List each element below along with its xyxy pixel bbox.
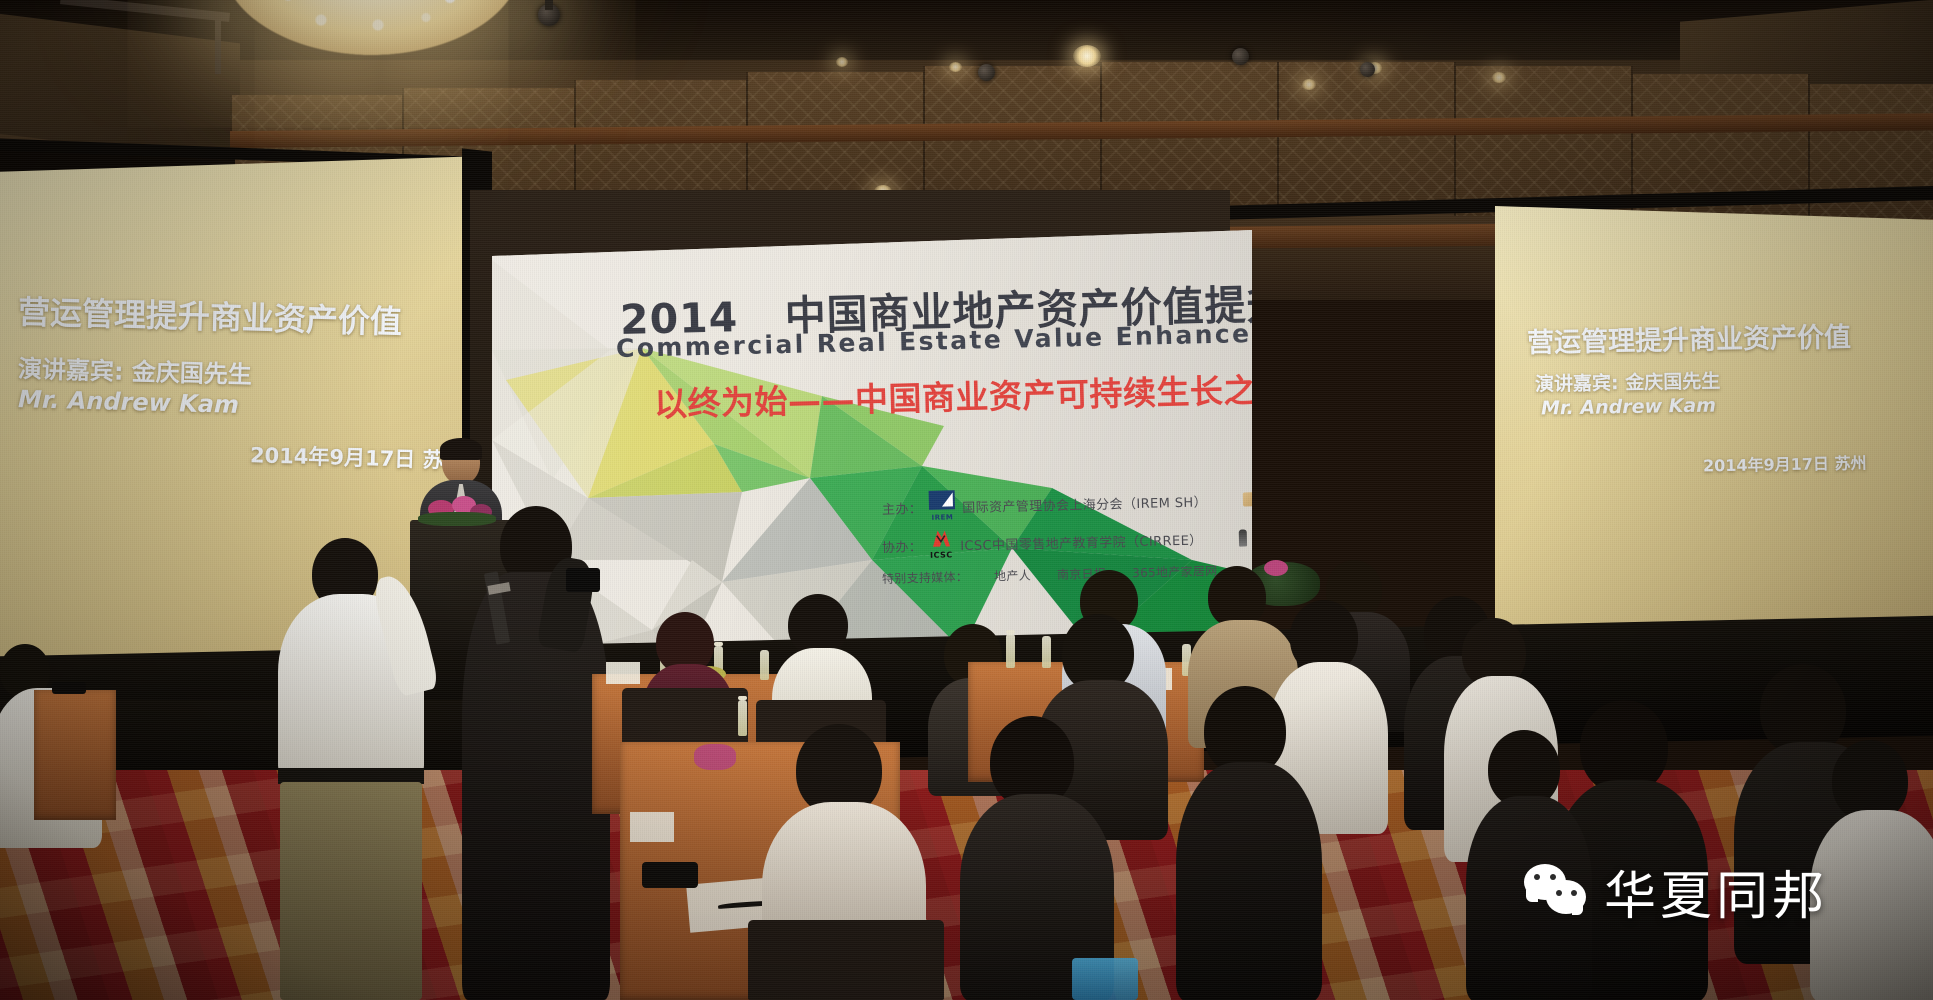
wechat-logo-icon — [1524, 864, 1590, 920]
credit-text-0-0: 国际资产管理协会上海分会（IREM SH） — [962, 491, 1207, 516]
wechat-account-name: 华夏同邦 — [1604, 854, 1828, 929]
water-bottle — [760, 650, 769, 680]
wechat-eye-3 — [1556, 890, 1562, 896]
bottle-cap — [1006, 630, 1015, 634]
torso — [1176, 762, 1322, 1000]
side-table-left — [34, 690, 116, 820]
place-card — [606, 662, 640, 684]
wechat-bubble-large-tail — [1526, 890, 1538, 902]
chamberlee-logo — [1243, 492, 1252, 506]
photographer — [462, 506, 610, 1000]
ceiling-spotlight-4 — [1492, 72, 1506, 83]
right-screen-speaker-en: Mr. Andrew Kam — [1541, 394, 1716, 419]
water-bottle — [1006, 634, 1015, 668]
torso — [462, 572, 610, 1000]
security-camera-2 — [978, 64, 995, 81]
ceiling-spotlight-6 — [949, 62, 962, 72]
ceiling-spotlight-1 — [1073, 45, 1101, 67]
right-screen: 营运管理提升商业资产价值 演讲嘉宾: 金庆国先生 Mr. Andrew Kam … — [1495, 206, 1933, 676]
credit-label-0: 主办： — [882, 498, 923, 518]
ceiling-spotlight-7 — [836, 57, 848, 67]
phone-screen-foreground — [1072, 958, 1138, 1000]
camera-body — [566, 568, 600, 592]
truss-drop — [215, 14, 221, 74]
head — [788, 594, 848, 656]
wechat-watermark: 华夏同邦 — [1524, 854, 1828, 929]
irem-mark-icon — [929, 490, 955, 510]
phone-on-table — [642, 862, 698, 888]
right-screen-speaker-cn: 演讲嘉宾: 金庆国先生 — [1535, 366, 1721, 396]
camera-mount-1 — [545, 0, 553, 10]
media-outlet-0: 地产人 — [994, 566, 1031, 584]
credit-label-1: 协办： — [882, 536, 923, 556]
water-bottle — [738, 700, 747, 736]
icsc-logo: ICSC — [929, 528, 954, 561]
ceiling-spotlight-3 — [1302, 79, 1316, 90]
left-screen-title: 营运管理提升商业资产价值 — [17, 287, 402, 343]
left-screen-speaker-en: Mr. Andrew Kam — [18, 385, 240, 419]
leiden-logo — [1238, 529, 1246, 546]
wechat-eye-4 — [1571, 890, 1577, 896]
audience-member — [1810, 740, 1933, 1000]
conference-photo: 营运管理提升商业资产价值 演讲嘉宾: 金庆国先生 Mr. Andrew Kam … — [0, 0, 1933, 1000]
right-screen-date: 2014年9月17日 苏州 — [1703, 450, 1867, 477]
wechat-eye-2 — [1550, 874, 1556, 880]
icsc-logo-caption: ICSC — [930, 550, 953, 560]
left-screen-speaker-cn: 演讲嘉宾: 金庆国先生 — [18, 349, 253, 390]
audience-member-white-shirt-left — [272, 532, 432, 1000]
torso — [1810, 810, 1933, 1000]
right-screen-title: 营运管理提升商业资产价值 — [1527, 315, 1852, 360]
head — [1208, 566, 1266, 628]
irem-logo-caption: IREM — [931, 513, 953, 522]
credit-text-1-0: ICSC中国零售地产教育学院（CIRREE） — [960, 529, 1203, 554]
irem-logo: IREM — [929, 490, 956, 523]
wall-panel-8 — [1454, 66, 1633, 216]
icsc-mark-icon — [929, 528, 953, 548]
name-card — [630, 812, 674, 842]
wechat-eye-1 — [1534, 874, 1540, 880]
chair-back — [748, 920, 944, 1000]
table-vase-flowers — [694, 744, 736, 770]
media-label: 特别支持媒体： — [882, 568, 968, 587]
speaker-hair — [440, 438, 482, 460]
bottle-cap — [738, 696, 747, 700]
audience-member — [1176, 686, 1316, 1000]
security-camera-4 — [1360, 62, 1375, 77]
remote-on-table — [52, 682, 86, 694]
security-camera-3 — [1232, 48, 1249, 65]
trousers — [280, 782, 422, 1000]
wechat-bubble-small-tail — [1572, 904, 1583, 915]
wall-panel-10 — [1808, 84, 1933, 234]
